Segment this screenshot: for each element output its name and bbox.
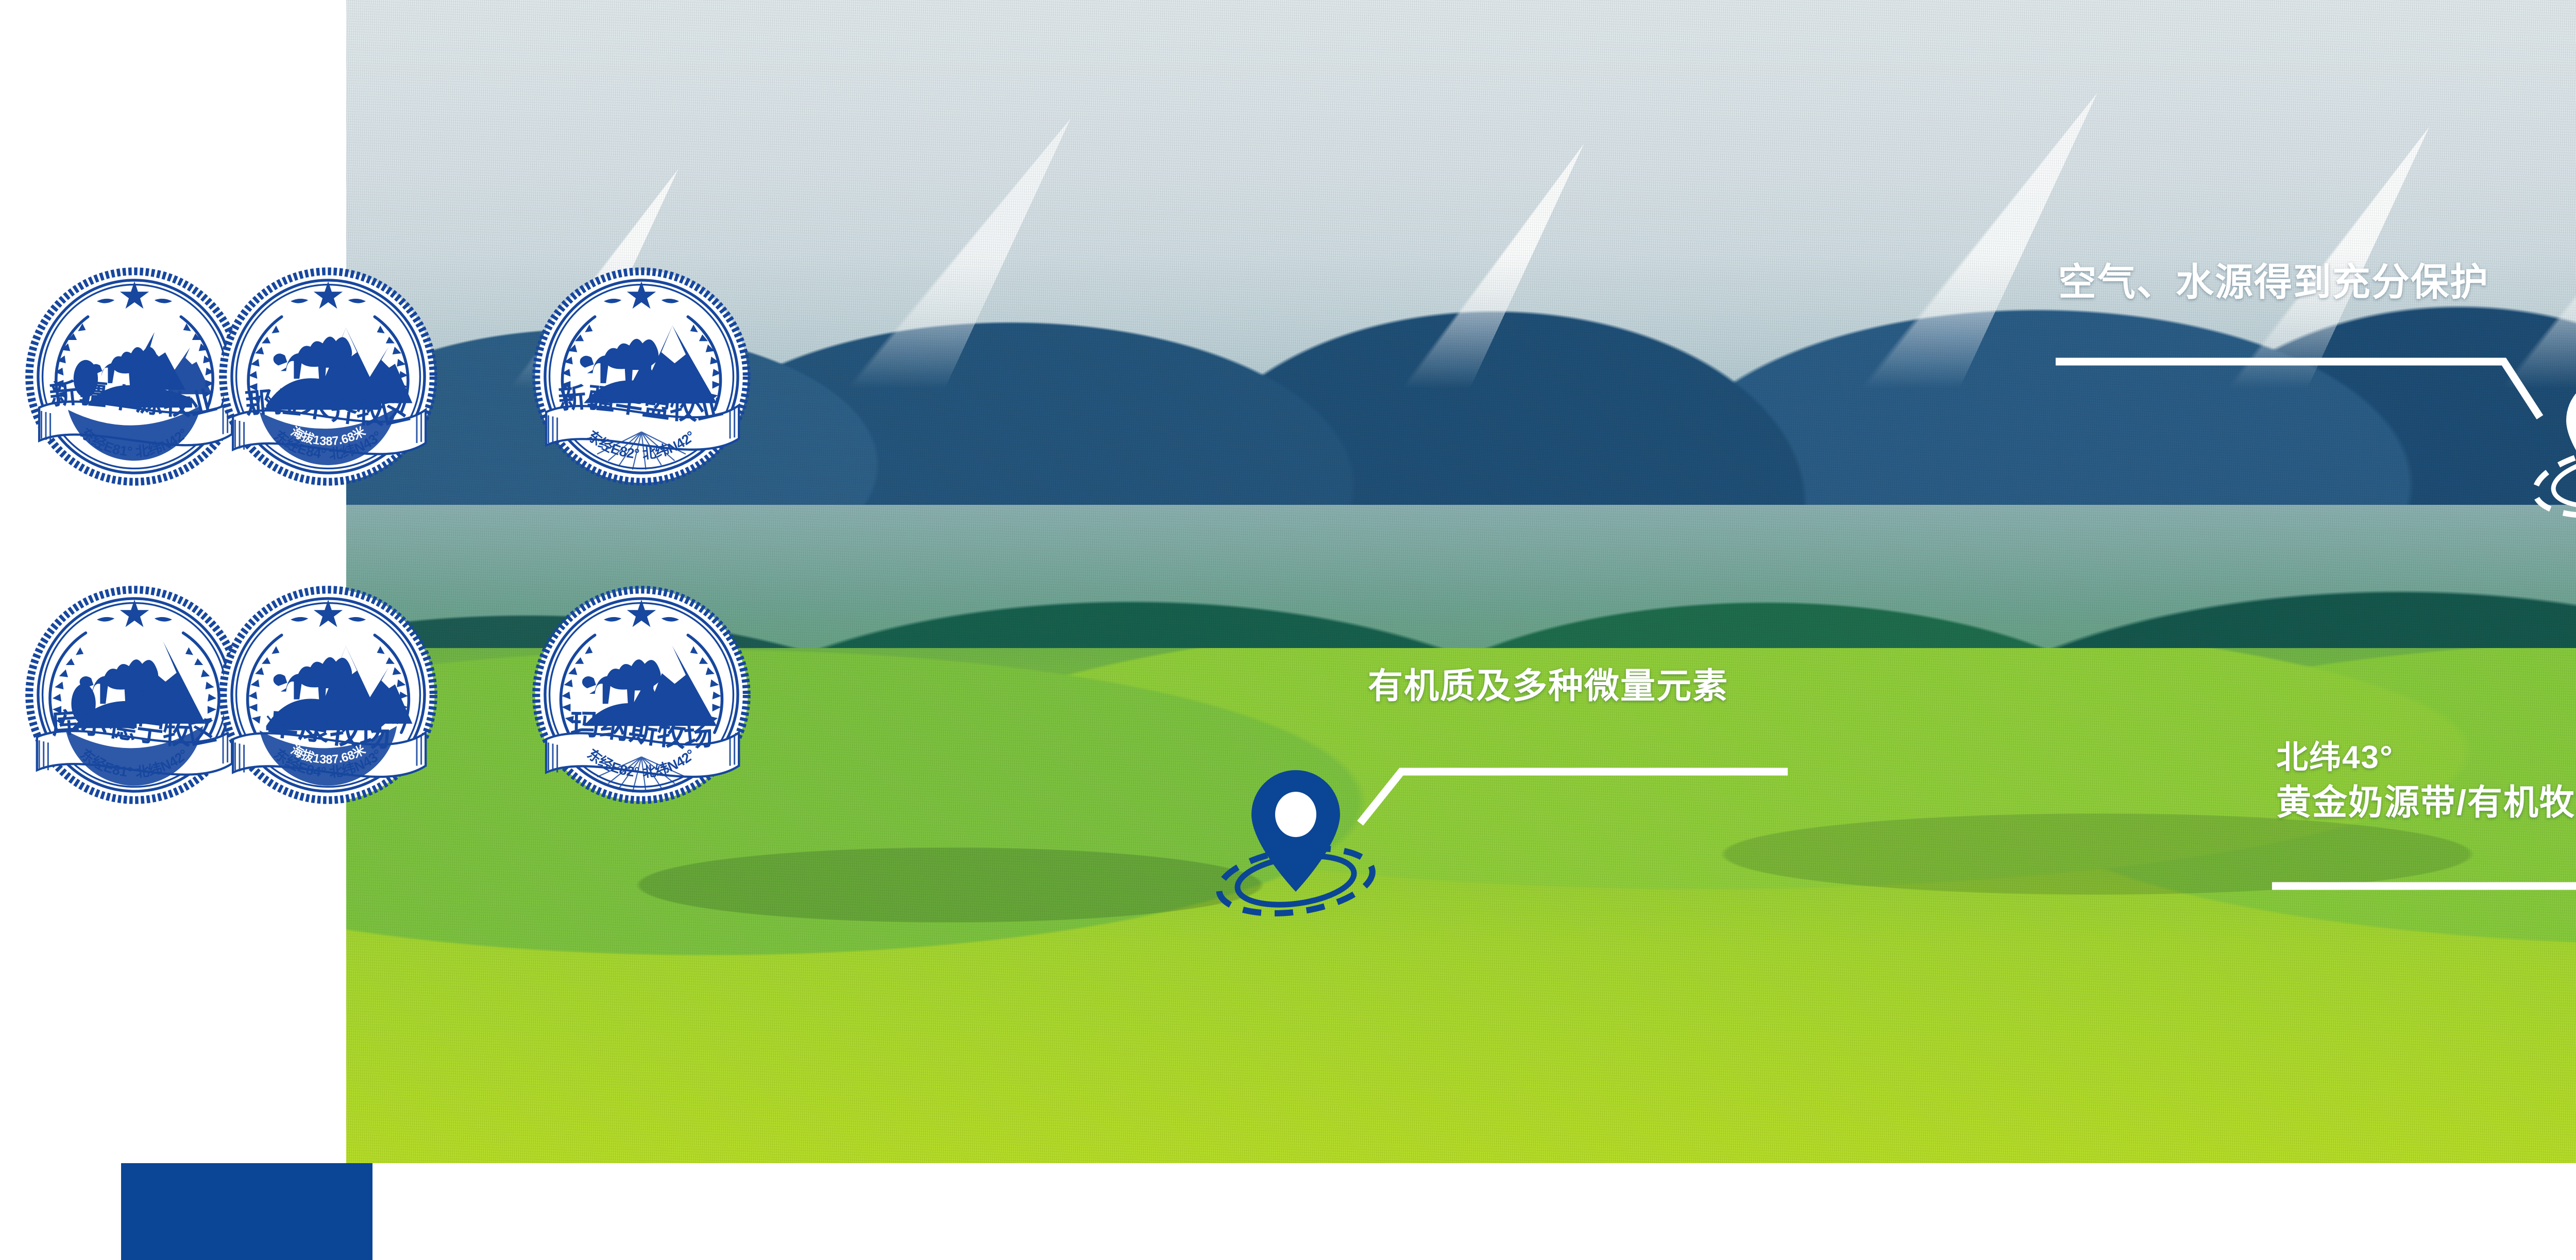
- callout-golden-belt: 北纬43° 黄金奶源带/有机牧场: [2276, 737, 2576, 826]
- camel-mountain-seal-icon: 玛纳斯牧场 东经E82° 北纬N42°: [531, 584, 752, 806]
- ranch-badge-2[interactable]: 那拉木齐牧区 海拔1387.68米 东经E84° 北纬N43°: [217, 266, 439, 487]
- ranch-badge-5[interactable]: 阜康牧场 海拔1387.68米 东经E84° 北纬N43°: [217, 584, 439, 806]
- leader-line-air-water: [2050, 350, 2545, 469]
- camel-mountain-seal-icon: 新疆华盟牧业 东经E82° 北纬N42°: [531, 266, 752, 487]
- callout-air-water: 空气、水源得到充分保护: [2058, 258, 2489, 307]
- bottom-blue-block: [121, 1163, 372, 1260]
- landscape-photo: [346, 0, 2576, 1163]
- ranch-badge-3[interactable]: 新疆华盟牧业 东经E82° 北纬N42°: [531, 266, 752, 487]
- callout-organic-matter: 有机质及多种微量元素: [1368, 663, 1728, 709]
- camel-mountain-seal-icon: 阜康牧场 海拔1387.68米 东经E84° 北纬N43°: [217, 584, 439, 806]
- ranch-badge-1[interactable]: 新疆本源牧业 东经E81° 北纬N42°: [24, 266, 245, 487]
- map-pin-air-water[interactable]: [2527, 371, 2576, 520]
- callout-air-water-line-1: 空气、水源得到充分保护: [2058, 258, 2489, 307]
- leader-line-golden-belt: [2267, 835, 2576, 989]
- camel-mountain-seal-icon: 库尔德宁牧区 东经E81° 北纬N42°: [24, 584, 245, 806]
- ranch-badge-6[interactable]: 玛纳斯牧场 东经E82° 北纬N42°: [531, 584, 752, 806]
- ranch-badge-4[interactable]: 库尔德宁牧区 东经E81° 北纬N42°: [24, 584, 245, 806]
- left-white-panel: [0, 0, 346, 1163]
- map-pin-organic-matter[interactable]: [1213, 765, 1383, 920]
- camel-mountain-seal-icon: 那拉木齐牧区 海拔1387.68米 东经E84° 北纬N43°: [217, 266, 439, 487]
- photo-grain: [346, 0, 2576, 1163]
- callout-golden-belt-line-2: 黄金奶源带/有机牧场: [2276, 779, 2576, 826]
- camel-mountain-seal-icon: 新疆本源牧业 东经E81° 北纬N42°: [24, 266, 245, 487]
- callout-golden-belt-line-1: 北纬43°: [2276, 737, 2576, 779]
- callout-organic-matter-line-1: 有机质及多种微量元素: [1368, 663, 1728, 709]
